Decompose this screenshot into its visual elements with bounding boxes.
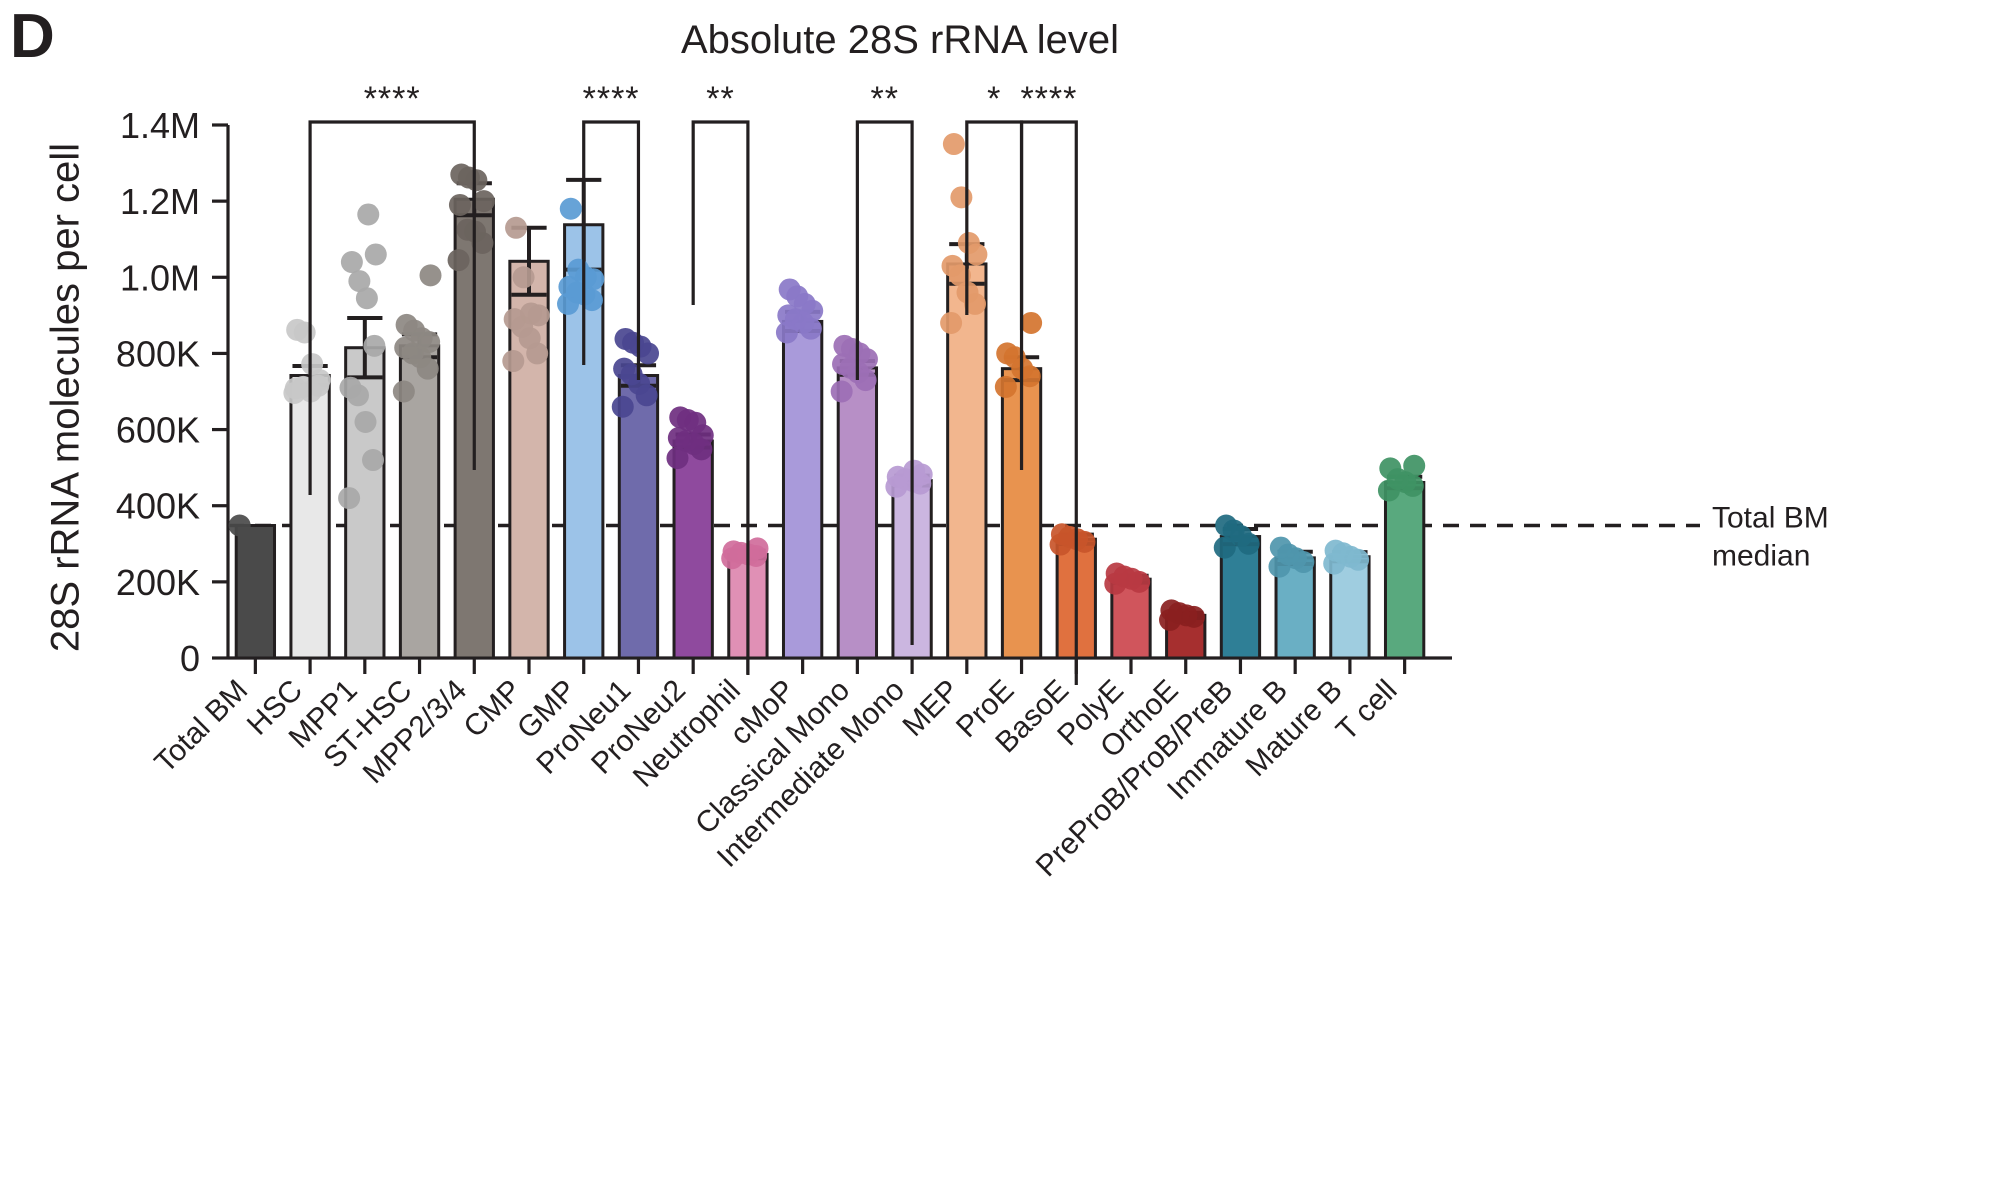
data-point <box>995 376 1017 398</box>
data-point <box>393 381 415 403</box>
data-point <box>301 353 323 375</box>
bar-chart-svg: 0200K400K600K800K1.0M1.2M1.4MTotal BMHSC… <box>0 0 2000 1195</box>
data-point <box>449 194 471 216</box>
bar[interactable] <box>674 441 712 658</box>
data-point <box>448 249 470 271</box>
x-axis-category-label: T cell <box>1330 674 1404 748</box>
y-tick-label: 600K <box>116 410 200 451</box>
y-tick-label: 400K <box>116 486 200 527</box>
data-point <box>365 243 387 265</box>
data-point <box>1051 523 1073 545</box>
data-point <box>450 163 472 185</box>
significance-label: * <box>987 80 1001 118</box>
data-point <box>513 266 535 288</box>
bar[interactable] <box>838 368 876 658</box>
data-point <box>473 190 495 212</box>
data-point <box>567 259 589 281</box>
median-label-line2: median <box>1712 540 1810 573</box>
data-point <box>943 133 965 155</box>
data-point <box>950 186 972 208</box>
significance-label: ** <box>706 80 734 118</box>
data-point <box>420 264 442 286</box>
data-point <box>362 449 384 471</box>
significance-label: ** <box>870 80 898 118</box>
median-label-line1: Total BM <box>1712 502 1829 535</box>
data-point <box>286 319 308 341</box>
data-point <box>1403 455 1425 477</box>
data-point <box>669 406 691 428</box>
data-point <box>958 232 980 254</box>
data-point <box>613 358 635 380</box>
data-point <box>285 377 307 399</box>
data-point <box>1325 540 1347 562</box>
data-point <box>996 342 1018 364</box>
data-point <box>1160 599 1182 621</box>
x-axis-category-label: Total BM <box>148 674 254 780</box>
data-point <box>612 396 634 418</box>
data-point <box>1020 312 1042 334</box>
y-tick-label: 0 <box>180 638 200 679</box>
data-point <box>229 515 251 537</box>
bar[interactable] <box>1385 482 1423 658</box>
data-point <box>1215 515 1237 537</box>
y-tick-label: 200K <box>116 562 200 603</box>
data-point <box>1106 562 1128 584</box>
data-point <box>903 460 925 482</box>
data-point <box>833 335 855 357</box>
data-point <box>560 198 582 220</box>
data-point <box>940 312 962 334</box>
data-point <box>941 255 963 277</box>
x-axis-category-label: CMP <box>457 674 527 744</box>
data-point <box>396 314 418 336</box>
data-point <box>363 335 385 357</box>
significance-label: **** <box>1020 80 1077 118</box>
data-point <box>779 278 801 300</box>
data-point <box>520 302 542 324</box>
significance-bracket: **** <box>310 80 474 495</box>
data-point <box>505 217 527 239</box>
data-point <box>1379 457 1401 479</box>
data-point <box>341 251 363 273</box>
data-point <box>1270 537 1292 559</box>
data-point <box>723 540 745 562</box>
bar[interactable] <box>783 321 821 658</box>
data-point <box>502 350 524 372</box>
data-point <box>339 377 361 399</box>
y-tick-label: 1.0M <box>120 257 200 298</box>
chart-plot-area: 0200K400K600K800K1.0M1.2M1.4MTotal BMHSC… <box>0 0 2000 1195</box>
data-point <box>338 487 360 509</box>
data-point <box>348 270 370 292</box>
data-point <box>357 203 379 225</box>
y-tick-label: 1.4M <box>120 105 200 146</box>
data-point <box>355 411 377 433</box>
data-point <box>746 537 768 559</box>
data-point <box>831 381 853 403</box>
y-tick-label: 1.2M <box>120 181 200 222</box>
bar[interactable] <box>619 376 657 658</box>
significance-label: **** <box>583 80 640 118</box>
x-axis-category-label: MEP <box>896 674 965 743</box>
significance-label: **** <box>364 80 421 118</box>
bar[interactable] <box>236 526 274 658</box>
data-point <box>615 328 637 350</box>
y-tick-label: 800K <box>116 333 200 374</box>
